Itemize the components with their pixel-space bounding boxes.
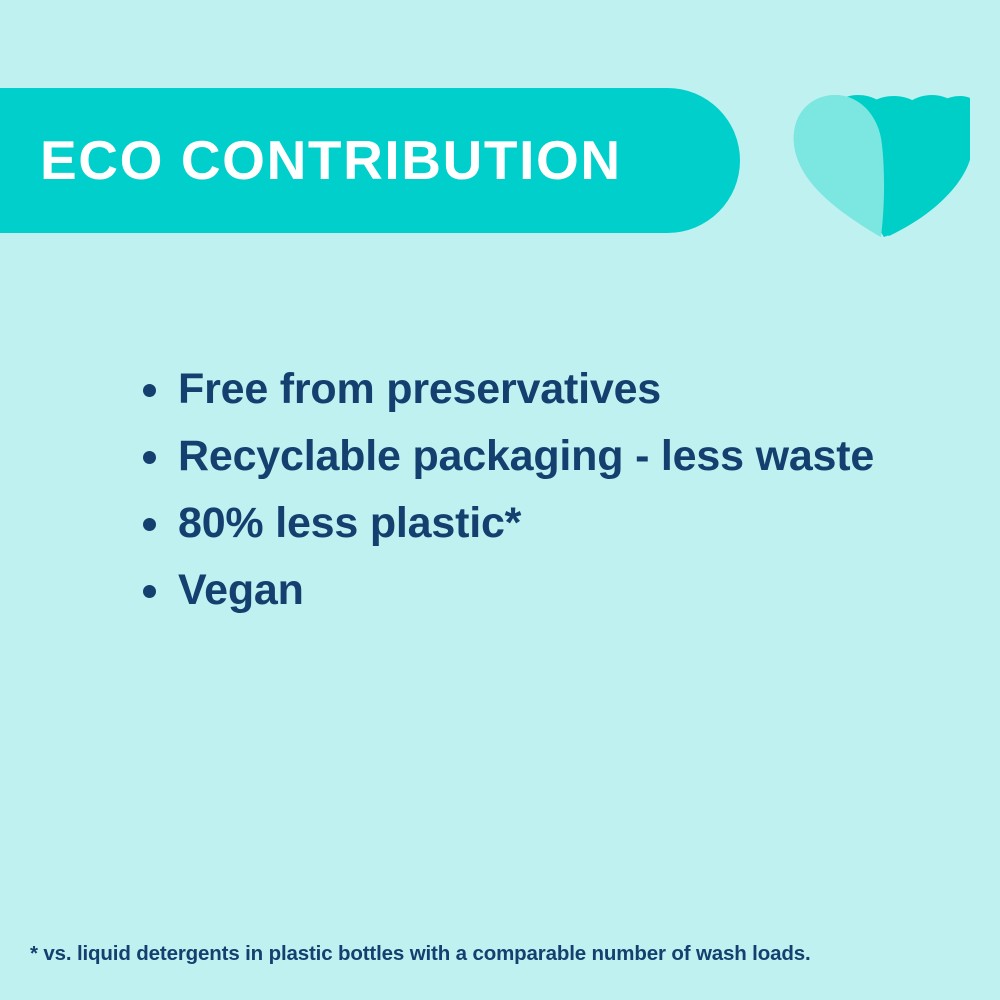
benefits-list: Free from preservatives Recyclable packa… <box>140 356 900 624</box>
list-item-label: Free from preservatives <box>178 365 661 413</box>
page-title: ECO CONTRIBUTION <box>40 133 622 188</box>
list-item-label: Recyclable packaging - less waste <box>178 432 874 480</box>
bullet-dot-icon <box>143 384 156 397</box>
heart-icon <box>788 86 970 238</box>
list-item: Free from preservatives <box>140 356 900 423</box>
header-row: ECO CONTRIBUTION <box>0 88 1000 236</box>
bullet-dot-icon <box>143 518 156 531</box>
bullet-dot-icon <box>143 451 156 464</box>
bullet-dot-icon <box>143 585 156 598</box>
list-item-label: 80% less plastic* <box>178 499 521 547</box>
footnote-text: * vs. liquid detergents in plastic bottl… <box>30 940 970 968</box>
list-item: 80% less plastic* <box>140 490 900 557</box>
list-item-label: Vegan <box>178 566 304 614</box>
title-banner: ECO CONTRIBUTION <box>0 88 740 233</box>
eco-contribution-poster: ECO CONTRIBUTION Free from preservatives… <box>0 0 1000 1000</box>
list-item: Vegan <box>140 557 900 624</box>
list-item: Recyclable packaging - less waste <box>140 423 878 490</box>
